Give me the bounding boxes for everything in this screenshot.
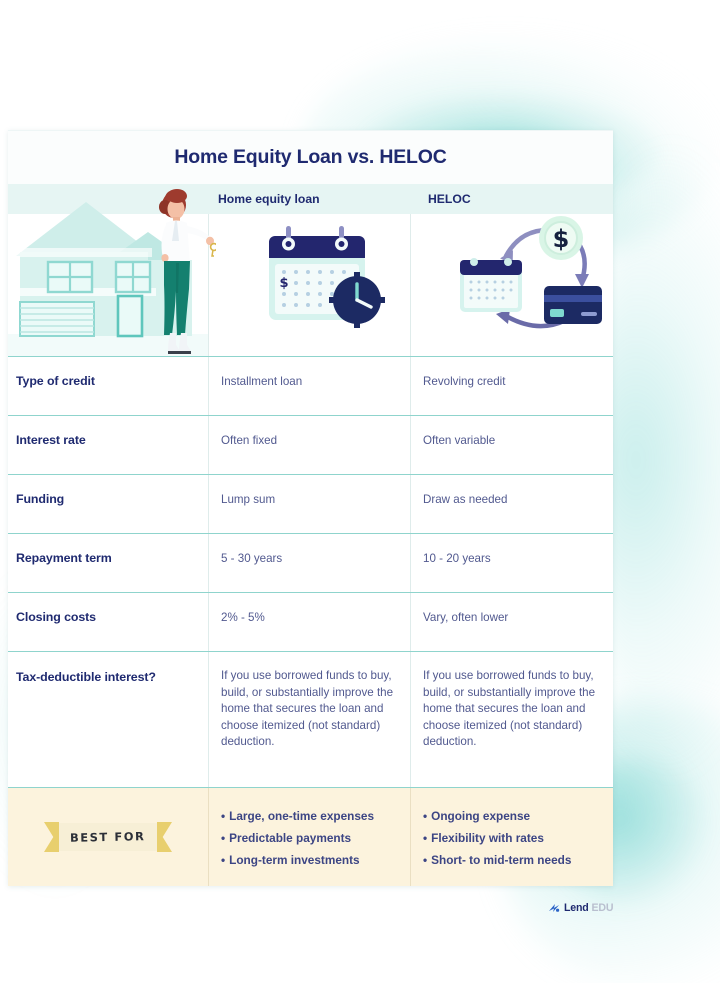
page-title: Home Equity Loan vs. HELOC [174,146,446,169]
hero-section: Home equity loan HELOC [8,184,613,356]
column-header-home-equity-loan: Home equity loan [218,184,320,214]
list-item: •Predictable payments [221,827,400,849]
list-item-text: Large, one-time expenses [229,809,374,823]
comparison-rows: Type of credit Installment loan Revolvin… [8,356,613,787]
comparison-card: Home Equity Loan vs. HELOC Home equity l… [8,130,613,886]
row-value-heloc: Revolving credit [410,357,612,415]
best-for-badge: BEST FOR [44,820,172,854]
list-item-text: Predictable payments [229,831,351,845]
credit-cycle-icon: $ [448,216,608,336]
card-title-band: Home Equity Loan vs. HELOC [8,130,613,184]
person-illustration [146,185,216,357]
table-row: Funding Lump sum Draw as needed [8,474,613,533]
list-item-text: Long-term investments [229,853,359,867]
ribbon-tail-left-icon [44,822,59,852]
best-for-list-heloc: •Ongoing expense •Flexibility with rates… [410,788,612,886]
table-row: Closing costs 2% - 5% Vary, often lower [8,592,613,651]
bullet-icon: • [221,809,225,823]
row-value-home-equity-loan: Often fixed [208,416,410,474]
hero-illustrations: $ [8,214,613,356]
row-value-heloc: Often variable [410,416,612,474]
best-for-list-home-equity-loan: •Large, one-time expenses •Predictable p… [208,788,410,886]
logo-secondary-text: EDU [592,902,614,914]
list-item-text: Short- to mid-term needs [431,853,571,867]
row-label: Tax-deductible interest? [8,652,208,787]
table-row: Tax-deductible interest? If you use borr… [8,651,613,787]
row-value-home-equity-loan: If you use borrowed funds to buy, build,… [208,652,410,787]
calendar-clock-icon: $ [253,222,393,330]
row-value-heloc: 10 - 20 years [410,534,612,592]
svg-text:$: $ [279,276,288,291]
lendedu-logo: Lend EDU [548,902,613,914]
row-label: Interest rate [8,416,208,474]
lendedu-mark-icon [548,902,561,914]
svg-text:$: $ [553,225,570,253]
bullet-icon: • [221,831,225,845]
list-item: •Short- to mid-term needs [423,849,602,871]
row-value-home-equity-loan: 5 - 30 years [208,534,410,592]
best-for-label: BEST FOR [70,829,146,845]
row-value-home-equity-loan: 2% - 5% [208,593,410,651]
row-label: Closing costs [8,593,208,651]
column-divider-2 [410,214,411,356]
row-label: Repayment term [8,534,208,592]
table-row: Interest rate Often fixed Often variable [8,415,613,474]
bullet-icon: • [423,853,427,867]
logo-primary-text: Lend [564,902,589,914]
row-label: Type of credit [8,357,208,415]
bullet-icon: • [221,853,225,867]
row-value-home-equity-loan: Lump sum [208,475,410,533]
row-label: Funding [8,475,208,533]
row-value-home-equity-loan: Installment loan [208,357,410,415]
row-value-heloc: Draw as needed [410,475,612,533]
best-for-section: BEST FOR •Large, one-time expenses •Pred… [8,787,613,886]
list-item: •Large, one-time expenses [221,805,400,827]
list-item: •Ongoing expense [423,805,602,827]
bullet-icon: • [423,831,427,845]
bullet-icon: • [423,809,427,823]
table-row: Repayment term 5 - 30 years 10 - 20 year… [8,533,613,592]
list-item: •Flexibility with rates [423,827,602,849]
column-header-heloc: HELOC [428,184,471,214]
infographic-page: Home Equity Loan vs. HELOC Home equity l… [0,0,720,983]
row-value-heloc: Vary, often lower [410,593,612,651]
list-item-text: Flexibility with rates [431,831,544,845]
row-value-heloc: If you use borrowed funds to buy, build,… [410,652,612,787]
ribbon-tail-right-icon [157,822,172,852]
best-for-badge-cell: BEST FOR [8,788,208,886]
list-item-text: Ongoing expense [431,809,530,823]
table-row: Type of credit Installment loan Revolvin… [8,356,613,415]
list-item: •Long-term investments [221,849,400,871]
